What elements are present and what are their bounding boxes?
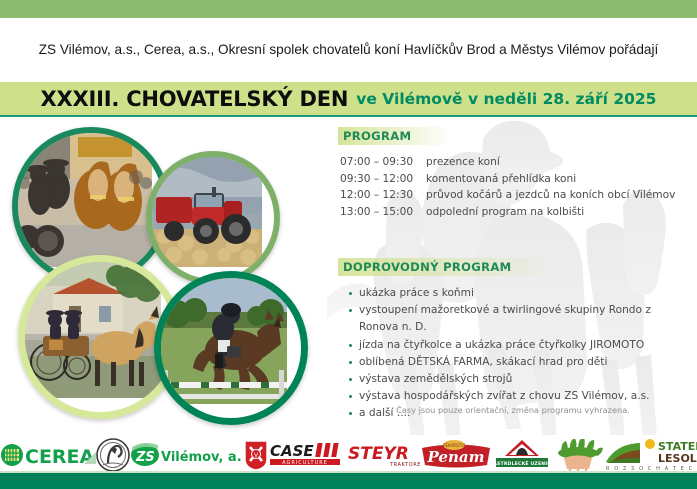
extra-program-item: výstava zemědělských strojů xyxy=(348,371,688,388)
logo-hastrdlecke-uzeniny: HASTRDLECKÉ UZENINY xyxy=(492,438,552,472)
organizers-text: ZS Vilémov, a.s., Cerea, a.s., Okresní s… xyxy=(19,40,679,60)
program-row: 13:00 – 15:00 odpolední program na kolbi… xyxy=(340,204,688,221)
logo-steyr: STEYR TRAKTOREN xyxy=(346,438,420,472)
program-time: 07:00 – 09:30 xyxy=(340,154,426,171)
logo-mestys-vilemov-erb: V xyxy=(242,438,270,472)
page-subtitle: ve Vilémově v neděli 28. září 2025 xyxy=(356,90,656,108)
program-disclaimer-note: Časy jsou pouze orientační, změna progra… xyxy=(338,405,688,415)
logo-case-ih: CASE AGRICULTURE xyxy=(270,438,346,472)
bottom-green-band xyxy=(0,473,697,489)
program-time: 12:00 – 12:30 xyxy=(340,187,426,204)
organizers-header: ZS Vilémov, a.s., Cerea, a.s., Okresní s… xyxy=(0,18,697,82)
logo-penam: PEKAŘSTVÍ Penam xyxy=(420,438,492,472)
program-description: průvod kočárů a jezdců na koních obcí Vi… xyxy=(426,187,688,204)
program-description: prezence koní xyxy=(426,154,688,171)
page-title: XXXIII. CHOVATELSKÝ DEN xyxy=(41,87,349,111)
extra-program-item: jízda na čtyřkolce a ukázka práce čtyřko… xyxy=(348,337,688,354)
extra-program-heading: DOPROVODNÝ PROGRAM xyxy=(338,258,551,276)
photo-show-jumping xyxy=(154,271,308,425)
program-column: PROGRAM 07:00 – 09:30 prezence koní 09:3… xyxy=(338,127,688,422)
logo-statek-lesolg: STATEK LESOLG R O Z S O C H A T E C xyxy=(604,438,697,472)
svg-text:CEREA: CEREA xyxy=(25,446,95,468)
main-content: PROGRAM 07:00 – 09:30 prezence koní 09:3… xyxy=(0,117,697,435)
svg-text:Penam: Penam xyxy=(427,448,485,466)
svg-text:STEYR: STEYR xyxy=(348,444,409,464)
program-row: 12:00 – 12:30 průvod kočárů a jezdců na … xyxy=(340,187,688,204)
sponsor-logo-strip: CEREA ZS Vilémov, a.s. xyxy=(0,437,697,473)
logo-okresni-spolek-chovatelu-koni xyxy=(96,438,130,472)
svg-text:LESOLG: LESOLG xyxy=(658,452,697,465)
program-heading: PROGRAM xyxy=(338,127,451,145)
top-green-band xyxy=(0,0,697,18)
svg-text:Vilémov, a.s.: Vilémov, a.s. xyxy=(161,450,242,465)
svg-text:CASE: CASE xyxy=(270,442,314,460)
extra-program-item: ukázka práce s koňmi xyxy=(348,285,688,302)
program-description: odpolední program na kolbišti xyxy=(426,204,688,221)
photo-red-tractor xyxy=(146,151,280,285)
program-row: 07:00 – 09:30 prezence koní xyxy=(340,154,688,171)
svg-text:ZS: ZS xyxy=(135,450,155,465)
program-list: 07:00 – 09:30 prezence koní 09:30 – 12:0… xyxy=(340,154,688,220)
extra-program-list: ukázka práce s koňmi vystoupení mažoretk… xyxy=(348,285,688,422)
extra-program-item: oblíbená DĚTSKÁ FARMA, skákací hrad pro … xyxy=(348,354,688,371)
program-time: 13:00 – 15:00 xyxy=(340,204,426,221)
logo-cerea: CEREA xyxy=(0,438,96,472)
svg-text:TRAKTOREN: TRAKTOREN xyxy=(389,462,420,468)
extra-program-item: výstava hospodářských zvířat z chovu ZS … xyxy=(348,388,688,405)
logo-agro-green xyxy=(552,438,604,472)
logo-zs-vilemov: ZS Vilémov, a.s. xyxy=(130,438,242,472)
extra-program-item: vystoupení mažoretkové a twirlingové sku… xyxy=(348,302,688,336)
title-band: XXXIII. CHOVATELSKÝ DEN ve Vilémově v ne… xyxy=(0,82,697,115)
photo-collage xyxy=(8,119,328,419)
svg-text:AGRICULTURE: AGRICULTURE xyxy=(282,460,328,466)
program-row: 09:30 – 12:00 komentovaná přehlídka koni xyxy=(340,171,688,188)
program-time: 09:30 – 12:00 xyxy=(340,171,426,188)
poster-root: ZS Vilémov, a.s., Cerea, a.s., Okresní s… xyxy=(0,0,697,489)
program-description: komentovaná přehlídka koni xyxy=(426,171,688,188)
